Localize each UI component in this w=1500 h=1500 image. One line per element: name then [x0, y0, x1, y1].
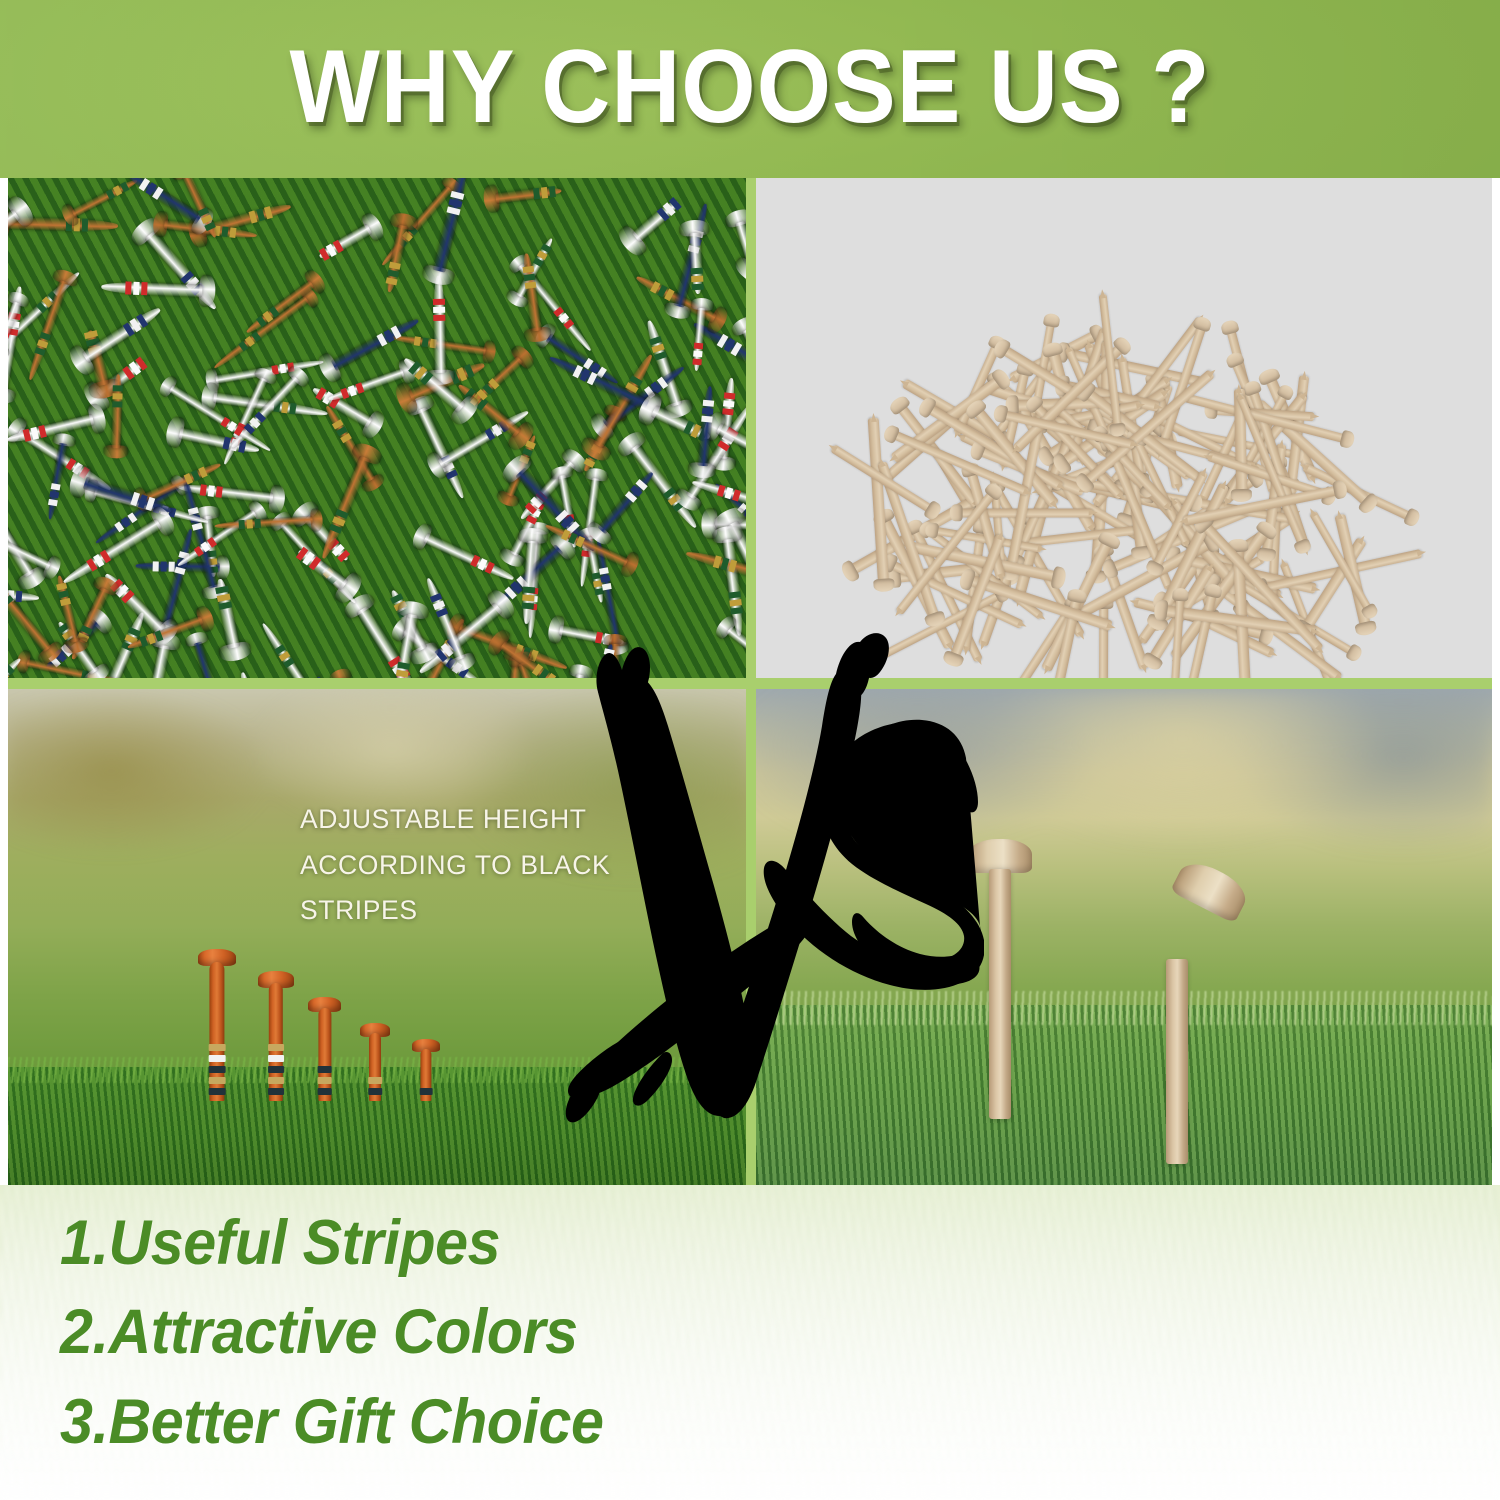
comparison-photo-grid: ADJUSTABLE HEIGHT ACCORDING TO BLACK STR… [8, 178, 1492, 1185]
benefits-footer: 1.Useful Stripes 2.Attractive Colors 3.B… [0, 1185, 1500, 1500]
panel-broken-wooden-tees [756, 689, 1492, 1185]
panel-colorful-striped-tees [8, 178, 746, 678]
header-band: WHY CHOOSE US ? [0, 0, 1500, 178]
caption-line-1: ADJUSTABLE HEIGHT [300, 797, 680, 843]
grass-bokeh [756, 689, 1492, 937]
grass-turf [756, 1005, 1492, 1185]
benefit-item-2: 2.Attractive Colors [60, 1288, 603, 1377]
caption-line-2: ACCORDING TO BLACK [300, 843, 680, 889]
adjustable-height-caption: ADJUSTABLE HEIGHT ACCORDING TO BLACK STR… [300, 797, 680, 934]
golf-tee [433, 276, 447, 385]
adjustable-tee-3 [308, 997, 341, 1101]
adjustable-tee-1 [198, 949, 236, 1101]
page-title: WHY CHOOSE US ? [60, 28, 1440, 147]
caption-line-3: STRIPES [300, 888, 680, 934]
benefit-list: 1.Useful Stripes 2.Attractive Colors 3.B… [60, 1199, 638, 1467]
panel-plain-bamboo-tees [756, 178, 1492, 678]
golf-tee [111, 374, 123, 459]
adjustable-tee-2 [258, 971, 294, 1101]
bamboo-tee [1098, 603, 1108, 678]
product-comparison-infographic: WHY CHOOSE US ? ADJUSTABLE HEIGHT ACCORD… [0, 0, 1500, 1500]
benefit-item-3: 3.Better Gift Choice [60, 1378, 603, 1467]
panel-adjustable-height-tees: ADJUSTABLE HEIGHT ACCORDING TO BLACK STR… [8, 689, 746, 1185]
adjustable-tee-5 [412, 1039, 440, 1101]
golf-tee [688, 219, 704, 294]
benefit-item-1: 1.Useful Stripes [60, 1199, 603, 1288]
adjustable-tee-4 [360, 1023, 390, 1101]
